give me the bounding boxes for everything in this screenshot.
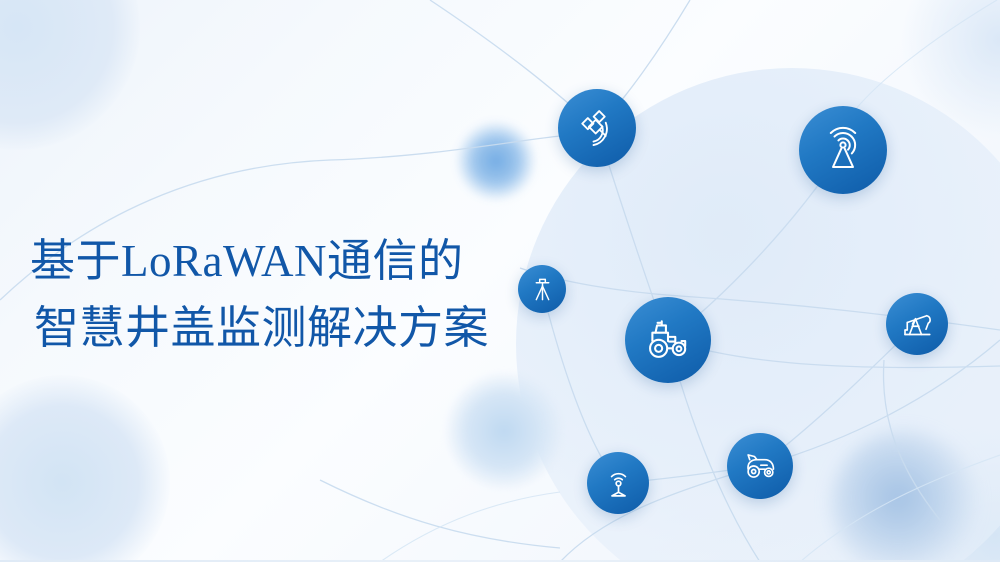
lawn-mower-icon xyxy=(741,447,779,485)
node-signal-beacon[interactable] xyxy=(587,452,649,514)
satellite-icon xyxy=(576,107,618,149)
slide-canvas: 基于LoRaWAN通信的 智慧井盖监测解决方案 xyxy=(0,0,1000,562)
node-tractor[interactable] xyxy=(625,297,711,383)
tractor-icon xyxy=(643,315,693,365)
bg-glow-dot-upper xyxy=(455,120,537,202)
node-satellite[interactable] xyxy=(558,89,636,167)
bg-glow-dot-corner xyxy=(830,430,980,562)
node-lawn-mower[interactable] xyxy=(727,433,793,499)
title-line-2: 智慧井盖监测解决方案 xyxy=(30,295,550,362)
node-radio-tower[interactable] xyxy=(799,106,887,194)
radio-tower-icon xyxy=(819,126,867,174)
oil-pump-icon xyxy=(899,306,935,342)
title-line-1: 基于LoRaWAN通信的 xyxy=(30,228,550,295)
page-title: 基于LoRaWAN通信的 智慧井盖监测解决方案 xyxy=(30,228,550,361)
signal-beacon-icon xyxy=(601,466,636,501)
bg-blob-bottom-left xyxy=(0,375,170,562)
node-oil-pump[interactable] xyxy=(886,293,948,355)
bg-blob-top-right xyxy=(900,0,1000,140)
bg-blob-bottom-right xyxy=(880,420,1000,562)
bg-blob-top-left xyxy=(0,0,140,150)
bg-glow-dot-lower xyxy=(445,372,563,490)
